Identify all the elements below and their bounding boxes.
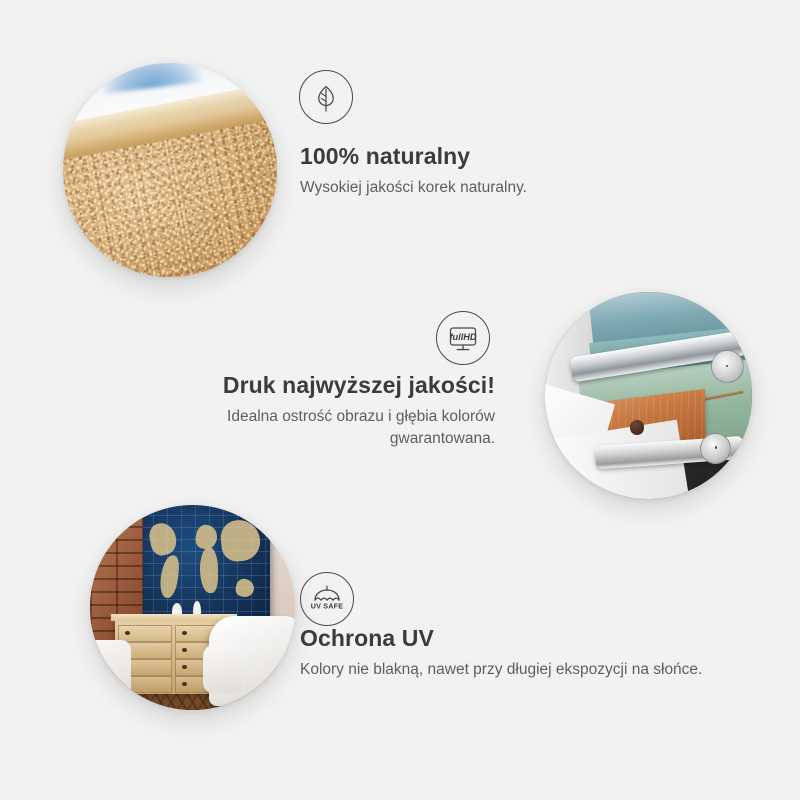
room-interior-world-map-photo: [90, 505, 295, 710]
white-armchair-secondary: [90, 640, 131, 710]
feature-uv-text: Ochrona UV Kolory nie blakną, nawet przy…: [300, 625, 730, 681]
photo-content: [63, 63, 277, 277]
uv-safe-label: UV SAFE: [311, 601, 344, 610]
white-armchair: [209, 616, 295, 706]
feature-natural-text: 100% naturalny Wysokiej jakości korek na…: [300, 143, 730, 199]
feature-natural-heading: 100% naturalny: [300, 143, 730, 171]
feature-uv-subtext: Kolory nie blakną, nawet przy długiej ek…: [300, 659, 730, 681]
uv-safe-umbrella-icon: UV SAFE: [300, 572, 354, 626]
dresser-drawer: [118, 625, 172, 642]
armchair-armrest: [203, 643, 241, 694]
promo-feature-panel: 100% naturalny Wysokiej jakości korek na…: [0, 0, 800, 800]
fullhd-monitor-icon: fullHD: [436, 311, 490, 365]
leaf-icon: [299, 70, 353, 124]
cork-board-closeup-photo: [63, 63, 277, 277]
feature-natural-subtext: Wysokiej jakości korek naturalny.: [300, 177, 730, 199]
feature-print-text: Druk najwyższej jakości! Idealna ostrość…: [120, 372, 495, 451]
feature-print-subtext: Idealna ostrość obrazu i głębia kolorów …: [120, 406, 495, 451]
photo-content: [90, 505, 295, 710]
dresser-top-surface: [111, 614, 237, 621]
machine-knob: [630, 420, 644, 434]
fullhd-label: fullHD: [449, 332, 476, 342]
roller-end-cap-top: [711, 350, 744, 383]
printing-press-photo: [545, 292, 752, 499]
photo-content: [545, 292, 752, 499]
roller-end-cap-bottom: [700, 433, 731, 464]
feature-print-heading: Druk najwyższej jakości!: [120, 372, 495, 400]
feature-uv-heading: Ochrona UV: [300, 625, 730, 653]
